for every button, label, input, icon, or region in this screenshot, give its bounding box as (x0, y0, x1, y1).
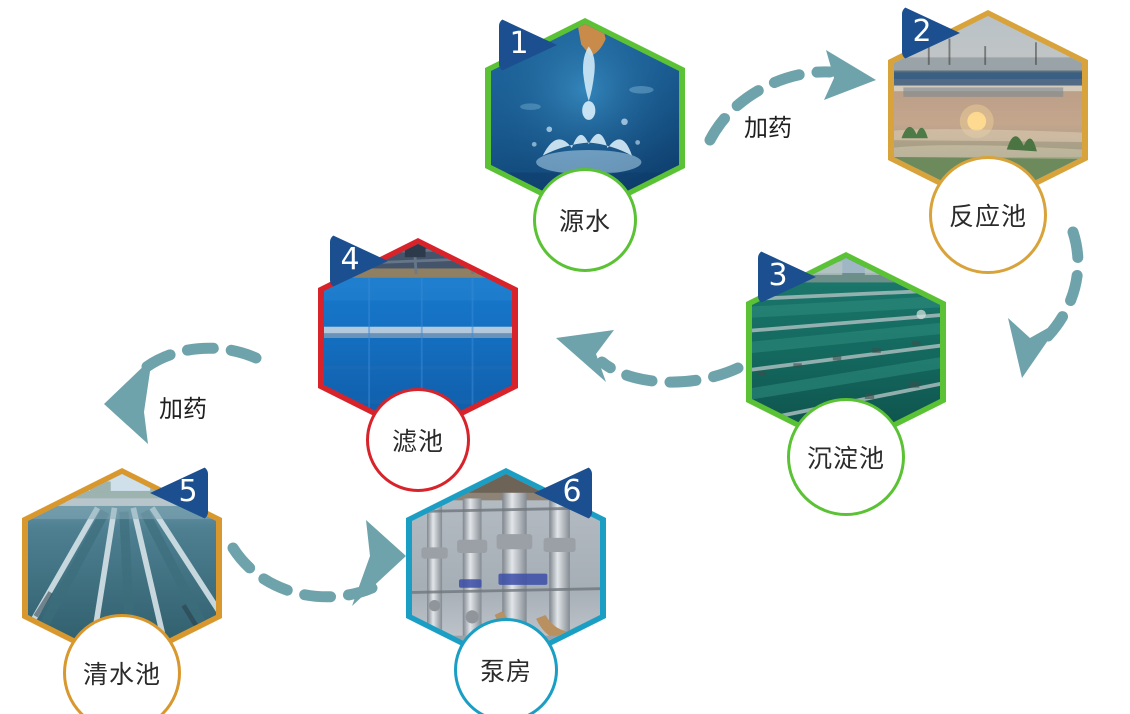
step-5-label: 清水池 (83, 655, 161, 691)
step-2-number: 2 (902, 6, 942, 60)
step-2-number-badge: 2 (902, 6, 960, 60)
step-3-number-badge: 3 (758, 250, 816, 304)
step-4-number-badge: 4 (330, 234, 388, 288)
step-6-label: 泵房 (480, 652, 532, 688)
step-2-label-circle[interactable]: 反应池 (929, 156, 1047, 274)
step-2-label: 反应池 (949, 197, 1027, 233)
step-6-label-circle[interactable]: 泵房 (454, 618, 558, 714)
arrow-sedimentation-to-filter (556, 330, 738, 382)
step-node-6[interactable]: 6 泵房 (406, 468, 606, 714)
step-6-number-badge: 6 (534, 466, 592, 520)
step-3-label: 沉淀池 (807, 439, 885, 475)
step-3-number: 3 (758, 250, 798, 304)
process-flow-diagram: .dash { fill: none; stroke: #6fa3ab; str… (0, 0, 1130, 714)
step-node-4[interactable]: 4 滤池 (318, 238, 518, 498)
step-4-label: 滤池 (392, 422, 444, 458)
step-6-number: 6 (552, 466, 592, 520)
step-1-number: 1 (499, 18, 539, 72)
step-4-label-circle[interactable]: 滤池 (366, 388, 470, 492)
step-4-number: 4 (330, 234, 370, 288)
step-1-label-circle[interactable]: 源水 (533, 168, 637, 272)
step-5-number-badge: 5 (150, 466, 208, 520)
step-1-number-badge: 1 (499, 18, 557, 72)
step-5-number: 5 (168, 466, 208, 520)
step-1-label: 源水 (559, 202, 611, 238)
step-node-3[interactable]: 3 沉淀池 (746, 252, 946, 512)
arrow-label-dosing-2: 加药 (159, 389, 207, 424)
step-node-5[interactable]: 5 清水池 (22, 468, 222, 714)
step-3-label-circle[interactable]: 沉淀池 (787, 398, 905, 516)
arrow-clearwater-to-pumphouse (233, 520, 406, 606)
arrow-label-dosing-1: 加药 (744, 108, 792, 143)
step-node-2[interactable]: 2 反应池 (888, 10, 1088, 270)
arrow-source-to-reaction (710, 50, 876, 140)
